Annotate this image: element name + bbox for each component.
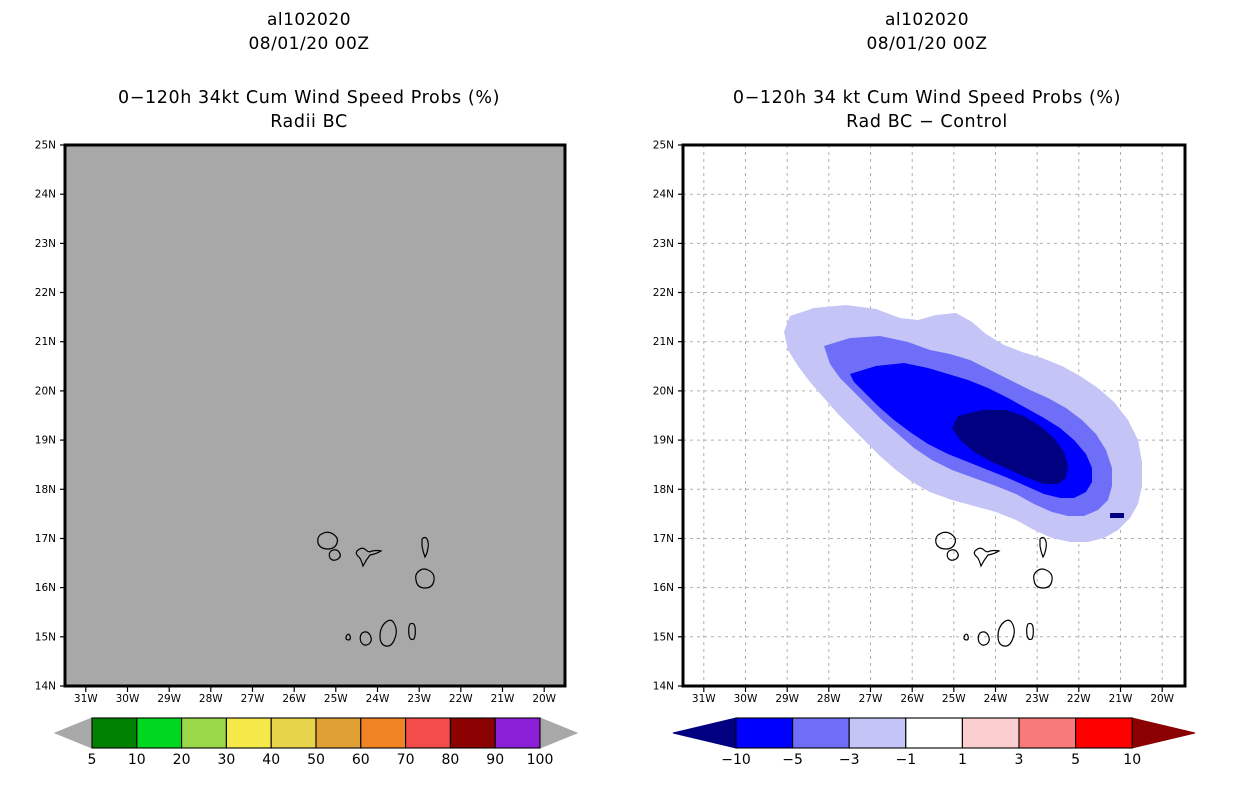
contour-tip-below-minus10 — [1110, 513, 1124, 518]
svg-text:3: 3 — [1015, 752, 1024, 768]
svg-text:21W: 21W — [1109, 693, 1133, 705]
svg-text:20N: 20N — [653, 385, 674, 397]
svg-text:22N: 22N — [35, 287, 56, 299]
svg-text:70: 70 — [397, 752, 415, 768]
colorbar-over-arrow-right — [1132, 718, 1195, 748]
svg-text:20W: 20W — [1150, 693, 1174, 705]
svg-text:−1: −1 — [895, 752, 916, 768]
svg-text:24N: 24N — [653, 189, 674, 201]
svg-text:14N: 14N — [35, 681, 56, 693]
svg-text:21N: 21N — [35, 336, 56, 348]
svg-text:23W: 23W — [1025, 693, 1049, 705]
svg-text:14N: 14N — [653, 681, 674, 693]
right-plot-area: 14N 15N 16N 17N 18N 19N 20N 21N 22N 23N — [618, 0, 1236, 800]
svg-text:26W: 26W — [282, 693, 306, 705]
svg-text:22W: 22W — [1067, 693, 1091, 705]
colorbar-swatches-right — [736, 718, 1132, 748]
left-y-axis: 14N 15N 16N 17N 18N 19N 20N 21N 22N 23N — [35, 140, 65, 693]
svg-text:30W: 30W — [116, 693, 140, 705]
svg-text:24W: 24W — [366, 693, 390, 705]
svg-text:31W: 31W — [74, 693, 98, 705]
svg-text:5: 5 — [1071, 752, 1080, 768]
svg-text:25N: 25N — [35, 140, 56, 152]
svg-text:27W: 27W — [859, 693, 883, 705]
svg-text:27W: 27W — [241, 693, 265, 705]
svg-text:24N: 24N — [35, 189, 56, 201]
svg-text:28W: 28W — [199, 693, 223, 705]
left-map-background — [65, 145, 565, 686]
colorbar-over-arrow-left — [540, 718, 577, 748]
svg-text:30W: 30W — [734, 693, 758, 705]
svg-text:23W: 23W — [407, 693, 431, 705]
svg-text:28W: 28W — [817, 693, 841, 705]
svg-text:16N: 16N — [653, 582, 674, 594]
right-y-axis: 14N 15N 16N 17N 18N 19N 20N 21N 22N 23N — [653, 140, 683, 693]
svg-text:−10: −10 — [721, 752, 751, 768]
svg-text:25W: 25W — [942, 693, 966, 705]
colorbar-labels-left: 5 10 20 30 40 50 60 70 80 90 100 — [88, 752, 554, 768]
svg-text:25N: 25N — [653, 140, 674, 152]
svg-text:26W: 26W — [900, 693, 924, 705]
svg-text:25W: 25W — [324, 693, 348, 705]
svg-text:60: 60 — [352, 752, 370, 768]
left-colorbar[interactable]: 5 10 20 30 40 50 60 70 80 90 100 — [55, 718, 577, 768]
svg-text:15N: 15N — [653, 631, 674, 643]
panel-rad-bc-minus-control: al102020 08/01/20 00Z 0−120h 34 kt Cum W… — [618, 0, 1236, 800]
svg-text:16N: 16N — [35, 582, 56, 594]
svg-text:15N: 15N — [35, 631, 56, 643]
svg-text:10: 10 — [1123, 752, 1141, 768]
svg-text:19N: 19N — [653, 435, 674, 447]
svg-text:20N: 20N — [35, 385, 56, 397]
svg-text:24W: 24W — [984, 693, 1008, 705]
right-x-axis: 31W 30W 29W 28W 27W 26W 25W 24W 23W 22W — [692, 686, 1175, 705]
svg-text:80: 80 — [441, 752, 459, 768]
svg-text:18N: 18N — [653, 484, 674, 496]
left-plot-area: 14N 15N 16N 17N 18N 19N 20N 21N 22N 23N — [0, 0, 618, 800]
svg-text:100: 100 — [527, 752, 554, 768]
right-colorbar[interactable]: −10 −5 −3 −1 1 3 5 10 — [673, 718, 1195, 768]
wind-speed-probability-figure: al102020 08/01/20 00Z 0−120h 34kt Cum Wi… — [0, 0, 1236, 800]
svg-text:22W: 22W — [449, 693, 473, 705]
svg-text:10: 10 — [128, 752, 146, 768]
svg-text:29W: 29W — [775, 693, 799, 705]
svg-text:23N: 23N — [653, 238, 674, 250]
left-x-axis: 31W 30W 29W 28W 27W 26W 25W 24W 23W 22W — [74, 686, 557, 705]
colorbar-swatches-left — [92, 718, 540, 748]
colorbar-labels-right: −10 −5 −3 −1 1 3 5 10 — [721, 752, 1141, 768]
svg-text:21N: 21N — [653, 336, 674, 348]
svg-text:21W: 21W — [491, 693, 515, 705]
panel-radii-bc: al102020 08/01/20 00Z 0−120h 34kt Cum Wi… — [0, 0, 618, 800]
svg-text:5: 5 — [88, 752, 97, 768]
svg-text:19N: 19N — [35, 435, 56, 447]
svg-text:18N: 18N — [35, 484, 56, 496]
svg-text:29W: 29W — [157, 693, 181, 705]
svg-text:30: 30 — [217, 752, 235, 768]
svg-text:17N: 17N — [35, 533, 56, 545]
svg-text:−5: −5 — [782, 752, 803, 768]
colorbar-under-arrow-right — [673, 718, 736, 748]
svg-text:31W: 31W — [692, 693, 716, 705]
svg-text:23N: 23N — [35, 238, 56, 250]
svg-text:50: 50 — [307, 752, 325, 768]
svg-text:90: 90 — [486, 752, 504, 768]
svg-text:1: 1 — [958, 752, 967, 768]
svg-text:20: 20 — [173, 752, 191, 768]
svg-text:17N: 17N — [653, 533, 674, 545]
svg-text:20W: 20W — [532, 693, 556, 705]
svg-text:40: 40 — [262, 752, 280, 768]
colorbar-under-arrow-left — [55, 718, 92, 748]
svg-text:22N: 22N — [653, 287, 674, 299]
svg-text:−3: −3 — [839, 752, 860, 768]
